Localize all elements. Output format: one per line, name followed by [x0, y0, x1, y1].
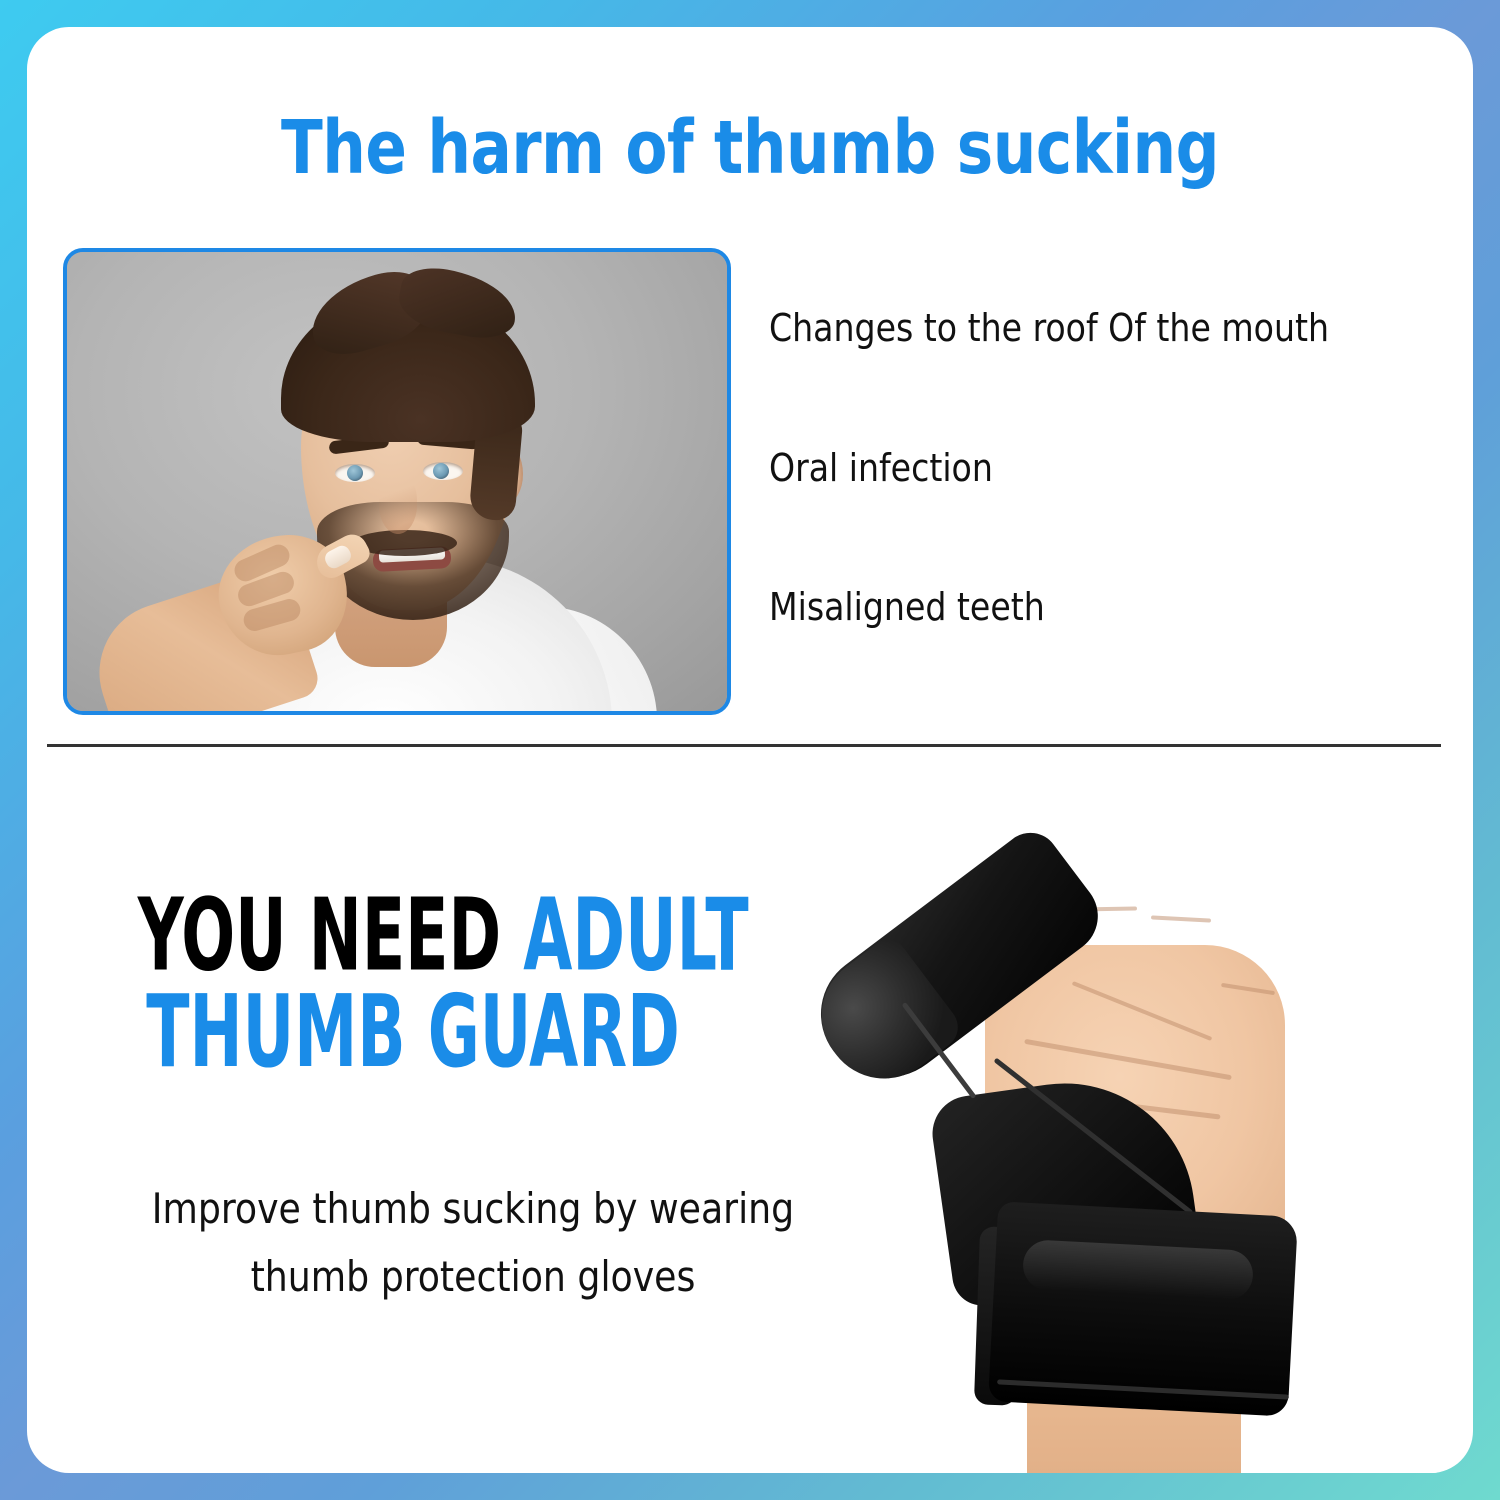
thumb-guard-product-photo	[817, 757, 1437, 1473]
headline-thumb-guard: THUMB GUARD	[146, 974, 680, 1090]
list-item: Oral infection	[769, 447, 1438, 490]
fingertip	[1225, 869, 1269, 919]
list-item: Changes to the roof Of the mouth	[769, 307, 1438, 350]
nail-biting-photo	[63, 248, 731, 715]
photo-scene	[67, 252, 727, 711]
list-item: Misaligned teeth	[769, 586, 1438, 629]
section-divider	[47, 744, 1441, 747]
product-headline: YOU NEED ADULT THUMB GUARD	[138, 889, 688, 1081]
fingertip	[1157, 789, 1205, 843]
gradient-border-frame: The harm of thumb sucking	[0, 0, 1500, 1500]
nose	[379, 476, 417, 534]
harm-list: Changes to the roof Of the mouth Oral in…	[769, 307, 1459, 629]
description-line-1: Improve thumb sucking by wearing	[89, 1175, 857, 1243]
fingertip	[1083, 775, 1131, 831]
right-iris	[433, 463, 449, 479]
infographic-card: The harm of thumb sucking	[27, 27, 1473, 1473]
description-line-2: thumb protection gloves	[89, 1243, 857, 1311]
left-iris	[347, 465, 363, 481]
product-description: Improve thumb sucking by wearing thumb p…	[89, 1175, 857, 1311]
page-title: The harm of thumb sucking	[85, 111, 1415, 185]
